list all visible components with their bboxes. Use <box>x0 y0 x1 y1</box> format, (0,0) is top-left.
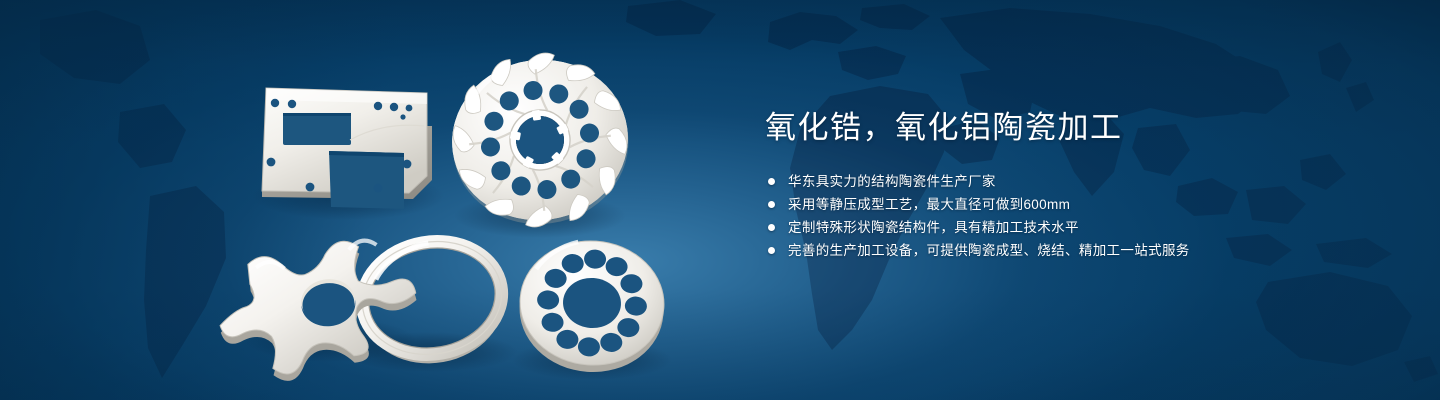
list-item: 华东具实力的结构陶瓷件生产厂家 <box>765 170 1325 193</box>
list-item-label: 完善的生产加工设备，可提供陶瓷成型、烧结、精加工一站式服务 <box>788 239 1190 262</box>
list-item: 采用等静压成型工艺，最大直径可做到600mm <box>765 193 1325 216</box>
list-item: 完善的生产加工设备，可提供陶瓷成型、烧结、精加工一站式服务 <box>765 239 1325 262</box>
bullet-dot-icon <box>768 178 775 185</box>
bullet-dot-icon <box>768 201 775 208</box>
bullet-dot-icon <box>768 224 775 231</box>
list-item: 定制特殊形状陶瓷结构件，具有精加工技术水平 <box>765 216 1325 239</box>
page-title: 氧化锆，氧化铝陶瓷加工 <box>765 108 1325 148</box>
promotional-banner: 氧化锆，氧化铝陶瓷加工 华东具实力的结构陶瓷件生产厂家 采用等静压成型工艺，最大… <box>0 0 1440 400</box>
feature-list: 华东具实力的结构陶瓷件生产厂家 采用等静压成型工艺，最大直径可做到600mm 定… <box>765 170 1325 262</box>
list-item-label: 华东具实力的结构陶瓷件生产厂家 <box>788 170 996 193</box>
list-item-label: 采用等静压成型工艺，最大直径可做到600mm <box>788 193 1070 216</box>
banner-copy: 氧化锆，氧化铝陶瓷加工 华东具实力的结构陶瓷件生产厂家 采用等静压成型工艺，最大… <box>765 108 1325 262</box>
bullet-dot-icon <box>768 247 775 254</box>
list-item-label: 定制特殊形状陶瓷结构件，具有精加工技术水平 <box>788 216 1079 239</box>
